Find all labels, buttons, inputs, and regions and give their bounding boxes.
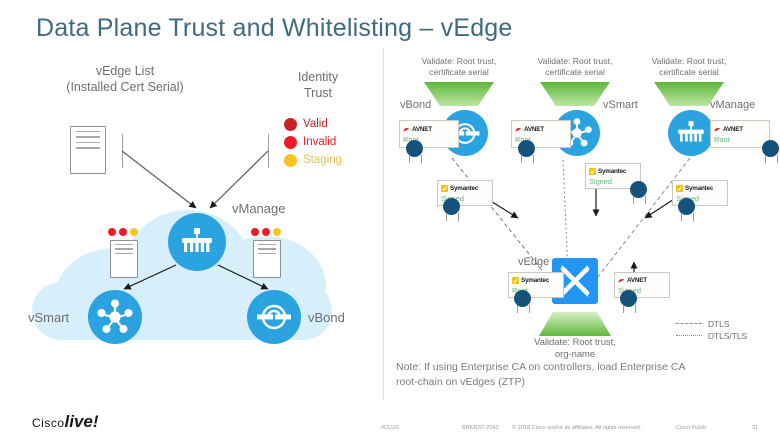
footer-session-id: BRKRST-2042 <box>462 425 499 431</box>
legend-label-invalid: Invalid <box>303 136 336 148</box>
dot-valid-icon <box>108 228 116 236</box>
cert-brand-row: Symantec <box>676 184 724 193</box>
right-tick-mark <box>268 134 269 168</box>
dtls-tls-line-icon <box>676 335 702 337</box>
vbond-node[interactable] <box>247 290 301 344</box>
vsmart-node[interactable] <box>88 290 142 344</box>
vbond-cert-list-icon <box>253 240 281 278</box>
vmanage-validate-label: Validate: Root trust, certificate serial <box>634 56 744 78</box>
cert-brand-row: Symantec <box>441 184 489 193</box>
dot-staging-icon <box>273 228 281 236</box>
cert-brand-name: AVNET <box>627 277 647 284</box>
vbond-validate-line1: Validate: Root trust, <box>404 56 514 67</box>
vsmart-icon <box>96 298 134 336</box>
note-line1: Note: If using Enterprise CA on controll… <box>396 360 726 375</box>
vedge-validate-funnel <box>539 312 611 336</box>
vmanage-node-label: vManage <box>232 201 285 216</box>
footer-copyright: © 2018 Cisco and/or its affiliates. All … <box>512 425 641 431</box>
cert-brand-row: AVNET <box>515 125 567 134</box>
identity-trust-legend: Valid Invalid Staging <box>284 115 342 169</box>
staging-dot-icon <box>284 154 297 167</box>
valid-dot-icon <box>284 118 297 131</box>
invalid-dot-icon <box>284 136 297 149</box>
dtls-line-icon <box>676 323 702 325</box>
legend-item-dtlstls: DTLS/TLS <box>676 330 747 342</box>
vmanage-node[interactable] <box>168 213 226 271</box>
vedge-signed-cert-seal-icon <box>620 290 637 307</box>
legend-item-invalid: Invalid <box>284 133 342 151</box>
vmanage-controller-node[interactable] <box>668 110 714 156</box>
vedge-validate-line1: Validate: Root trust, <box>520 336 630 348</box>
cert-brand-name: Symantec <box>685 185 713 192</box>
vedge-list-label-line1: vEdge List <box>30 64 220 80</box>
vsmart-validate-label: Validate: Root trust, certificate serial <box>520 56 630 78</box>
cert-brand-name: AVNET <box>412 126 432 133</box>
vmanage-icon <box>177 226 217 258</box>
avnet-mark-icon <box>618 277 625 284</box>
page-title: Data Plane Trust and Whitelisting – vEdg… <box>36 14 513 43</box>
cert-brand-name: Symantec <box>450 185 478 192</box>
vsmart-cert-list-icon <box>110 240 138 278</box>
cert-brand-name: Symantec <box>521 277 549 284</box>
identity-trust-label: Identity Trust <box>278 70 358 101</box>
cert-brand-row: AVNET <box>618 276 666 285</box>
vbond-trust-dots <box>251 228 281 236</box>
symantec-check-icon <box>676 185 683 192</box>
logo-cisco-text: Cisco <box>32 416 65 430</box>
signed-cert-center-seal-icon <box>630 181 647 198</box>
dot-valid-icon <box>251 228 259 236</box>
symantec-check-icon <box>512 277 519 284</box>
vmanage-root-cert: AVNET Root <box>710 120 770 148</box>
identity-trust-line2: Trust <box>278 86 358 102</box>
vbond-controller-label: vBond <box>400 99 431 111</box>
avnet-mark-icon <box>403 126 410 133</box>
vsmart-trust-dots <box>108 228 138 236</box>
vsmart-validate-funnel <box>540 82 610 106</box>
vbond-validate-funnel <box>424 82 494 106</box>
signed-cert-right-seal-icon <box>678 198 695 215</box>
logo-live-text: live! <box>65 412 99 431</box>
footer-page-number: 31 <box>752 425 758 431</box>
cert-brand-name: AVNET <box>524 126 544 133</box>
vmanage-validate-line2: certificate serial <box>634 67 744 78</box>
legend-label-staging: Staging <box>303 154 342 166</box>
slide-canvas: Data Plane Trust and Whitelisting – vEdg… <box>0 0 780 440</box>
cert-status: Root <box>714 135 766 144</box>
vsmart-controller-label: vSmart <box>603 99 638 111</box>
legend-label-dtls: DTLS <box>708 319 729 329</box>
cert-status: Signed <box>589 177 637 186</box>
avnet-mark-icon <box>714 126 721 133</box>
cert-brand-row: Symantec <box>512 276 560 285</box>
vbond-validate-line2: certificate serial <box>404 67 514 78</box>
left-tick-mark <box>122 134 123 168</box>
enterprise-ca-note: Note: If using Enterprise CA on controll… <box>396 360 726 390</box>
vbond-validate-label: Validate: Root trust, certificate serial <box>404 56 514 78</box>
legend-item-staging: Staging <box>284 151 342 169</box>
cert-brand-name: Symantec <box>598 168 626 175</box>
vmanage-validate-line1: Validate: Root trust, <box>634 56 744 67</box>
vmanage-root-cert-seal-icon <box>762 140 779 157</box>
cert-brand-name: AVNET <box>723 126 743 133</box>
vbond-node-label: vBond <box>308 310 345 325</box>
footer-hashtag: #CLUS <box>381 425 399 431</box>
vsmart-root-cert-seal-icon <box>518 140 535 157</box>
symantec-check-icon <box>441 185 448 192</box>
vedge-list-document-icon <box>70 126 106 174</box>
vsmart-node-label: vSmart <box>28 310 69 325</box>
vmanage-icon <box>674 119 708 147</box>
cert-brand-row: AVNET <box>403 125 455 134</box>
cert-brand-row: AVNET <box>714 125 766 134</box>
vedge-list-label-line2: (Installed Cert Serial) <box>30 80 220 96</box>
vedge-validate-label: Validate: Root trust, org-name <box>520 336 630 360</box>
vbond-root-cert-seal-icon <box>406 140 423 157</box>
vedge-list-label: vEdge List (Installed Cert Serial) <box>30 64 220 95</box>
symantec-check-icon <box>589 168 596 175</box>
avnet-mark-icon <box>515 126 522 133</box>
vedge-validate-line2: org-name <box>520 348 630 360</box>
vedge-node-label: vEdge <box>518 256 549 268</box>
vmanage-controller-label: vManage <box>710 99 755 111</box>
legend-item-valid: Valid <box>284 115 342 133</box>
dot-invalid-icon <box>119 228 127 236</box>
link-type-legend: DTLS DTLS/TLS <box>676 318 747 342</box>
vsmart-validate-line1: Validate: Root trust, <box>520 56 630 67</box>
panel-divider <box>383 48 384 400</box>
legend-label-dtlstls: DTLS/TLS <box>708 331 747 341</box>
vbond-icon <box>254 300 294 334</box>
ciscolive-logo: Ciscolive! <box>32 412 99 432</box>
dot-staging-icon <box>130 228 138 236</box>
cert-brand-row: Symantec <box>589 167 637 176</box>
note-line2: root-chain on vEdges (ZTP) <box>396 375 726 390</box>
signed-cert-left-seal-icon <box>443 198 460 215</box>
vedge-root-cert-seal-icon <box>514 290 531 307</box>
footer-classification: Cisco Public <box>676 425 707 431</box>
dot-invalid-icon <box>262 228 270 236</box>
legend-item-dtls: DTLS <box>676 318 747 330</box>
legend-label-valid: Valid <box>303 118 328 130</box>
identity-trust-line1: Identity <box>278 70 358 86</box>
vsmart-validate-line2: certificate serial <box>520 67 630 78</box>
